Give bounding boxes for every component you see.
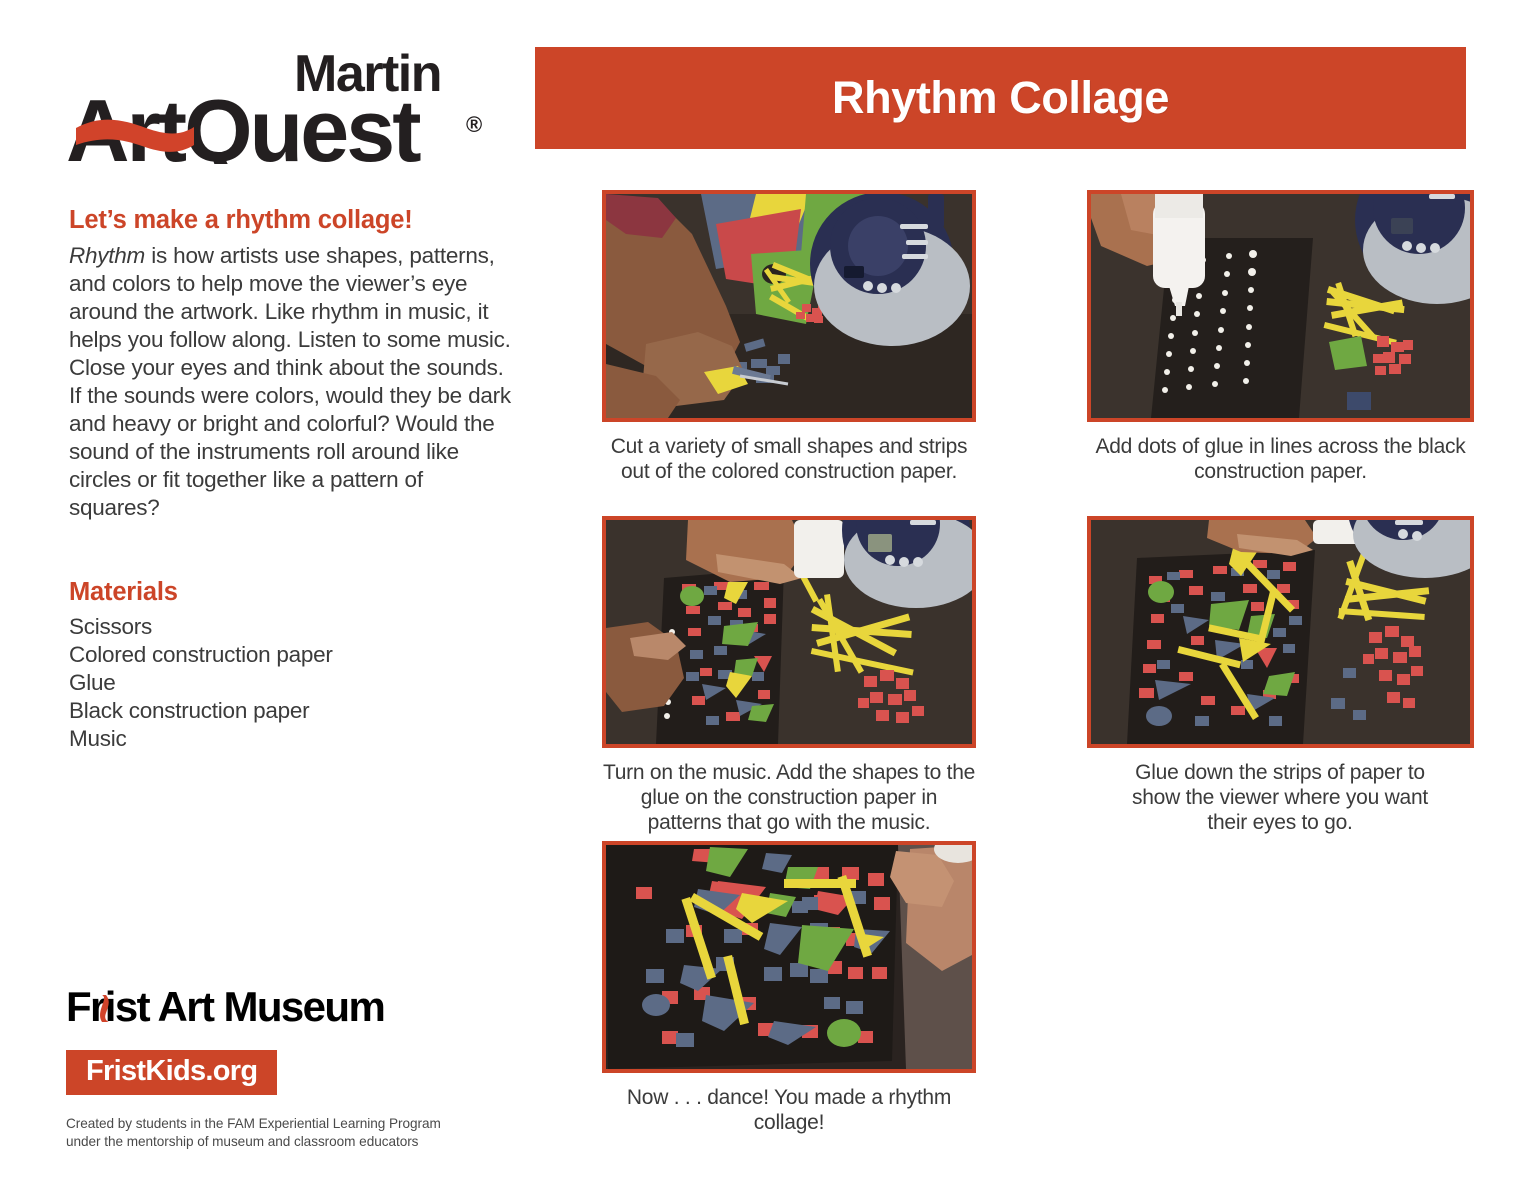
step-1: 1 [602,190,976,485]
step-4-photo-frame: 4 [1087,516,1474,748]
right-column: Rhythm Collage 1 [530,0,1536,1187]
step-5-caption: Now . . . dance! You made a rhythm colla… [602,1086,976,1136]
credits-line-1: Created by students in the FAM Experient… [66,1115,486,1133]
frist-art-museum-logo-text: Frist Art Museum [66,985,384,1030]
step-4-photo [1091,520,1470,744]
list-item: Music [69,725,489,753]
frist-art-museum-logo: Frist Art Museum [66,985,421,1030]
step-1-photo [606,194,972,418]
list-item: Colored construction paper [69,641,489,669]
step-3: 3 [602,516,976,835]
step-4: 4 [1087,516,1474,835]
page-title: Rhythm Collage [832,72,1169,124]
materials-heading: Materials [69,578,489,607]
frist-footer: Frist Art Museum FristKids.org Created b… [66,985,486,1150]
title-banner: Rhythm Collage [535,47,1466,149]
step-3-caption: Turn on the music. Add the shapes to the… [602,761,976,835]
step-1-caption: Cut a variety of small shapes and strips… [602,435,976,485]
credits-line-2: under the mentorship of museum and class… [66,1133,486,1151]
step-2-photo-frame: 2 [1087,190,1474,422]
list-item: Scissors [69,613,489,641]
step-3-photo-frame: 3 [602,516,976,748]
martin-artquest-logo: Martin ArtQuest ® [62,44,512,164]
intro-body-text: is how artists use shapes, patterns, and… [69,243,511,520]
fristkids-website-badge[interactable]: FristKids.org [66,1050,277,1095]
intro-heading: Let’s make a rhythm collage! [69,206,514,235]
step-2-photo [1091,194,1470,418]
step-2: 2 [1087,190,1474,485]
step-5-photo-frame: 5 [602,841,976,1073]
step-5-photo [606,845,972,1069]
materials-block: Materials Scissors Colored construction … [69,578,489,753]
step-4-caption: Glue down the strips of paper to show th… [1115,761,1445,835]
step-3-photo [606,520,972,744]
step-2-caption: Add dots of glue in lines across the bla… [1087,435,1474,485]
materials-list: Scissors Colored construction paper Glue… [69,613,489,753]
step-5: 5 [602,841,976,1136]
intro-paragraph: Rhythm is how artists use shapes, patter… [69,242,514,522]
list-item: Black construction paper [69,697,489,725]
list-item: Glue [69,669,489,697]
logo-registered-mark: ® [466,112,482,137]
step-1-photo-frame: 1 [602,190,976,422]
intro-block: Let’s make a rhythm collage! Rhythm is h… [69,206,514,522]
intro-italic-word: Rhythm [69,243,145,268]
left-column: Martin ArtQuest ® Let’s make a rhythm co… [0,0,520,1187]
credits-text: Created by students in the FAM Experient… [66,1115,486,1150]
